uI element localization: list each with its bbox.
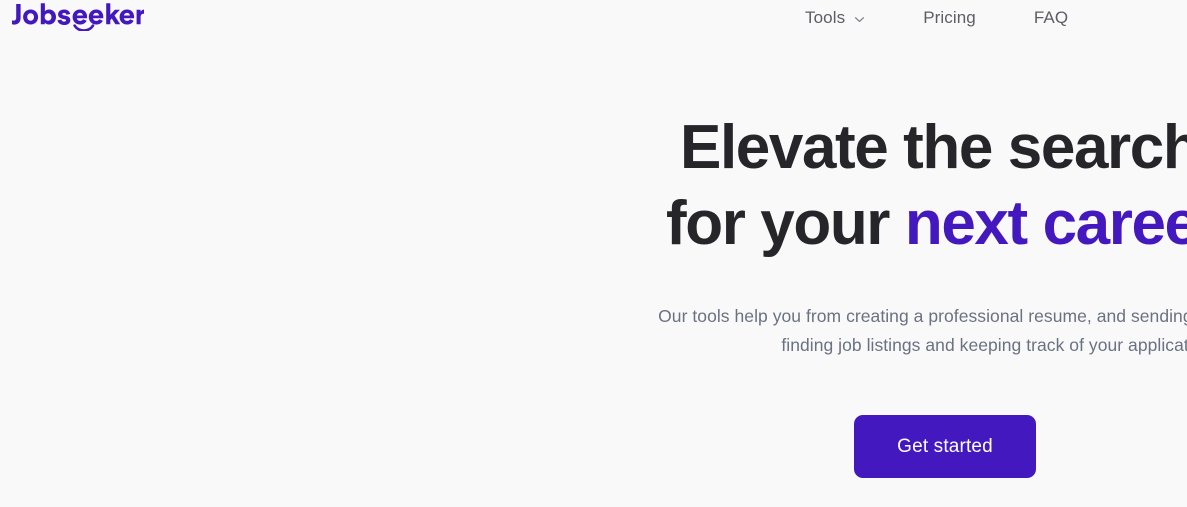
landing-page: Tools Pricing FAQ Elevate the search for…	[0, 0, 1187, 507]
get-started-button[interactable]: Get started	[854, 415, 1036, 478]
nav-item-pricing[interactable]: Pricing	[913, 4, 986, 32]
hero-subtext-line-2: finding job listings and keeping track o…	[506, 331, 1187, 360]
nav-item-tools[interactable]: Tools	[795, 4, 875, 32]
jobseeker-smile-logo-icon	[12, 1, 144, 36]
hero-section: Elevate the search for your next career …	[0, 40, 1187, 507]
hero-headline: Elevate the search for your next career	[680, 110, 1187, 262]
main-navigation: Tools Pricing FAQ	[795, 4, 1078, 32]
site-header: Tools Pricing FAQ	[0, 0, 1187, 40]
nav-item-faq-label: FAQ	[1034, 6, 1068, 30]
hero-subtext: Our tools help you from creating a profe…	[506, 302, 1187, 360]
chevron-down-icon	[854, 14, 865, 25]
brand-logo[interactable]	[12, 2, 144, 34]
hero-subtext-line-1: Our tools help you from creating a profe…	[506, 302, 1187, 331]
hero-headline-line-2-plain: for your	[666, 189, 905, 258]
hero-headline-line-1: Elevate the search	[680, 113, 1187, 182]
hero-headline-line-2: for your next career	[666, 186, 1187, 262]
nav-item-tools-label: Tools	[805, 6, 845, 30]
hero-content: Elevate the search for your next career …	[0, 40, 1187, 507]
hero-headline-accent: next career	[905, 189, 1187, 258]
nav-item-pricing-label: Pricing	[923, 6, 976, 30]
hero-cta-row: Get started	[854, 415, 1036, 478]
nav-item-faq[interactable]: FAQ	[1024, 4, 1078, 32]
